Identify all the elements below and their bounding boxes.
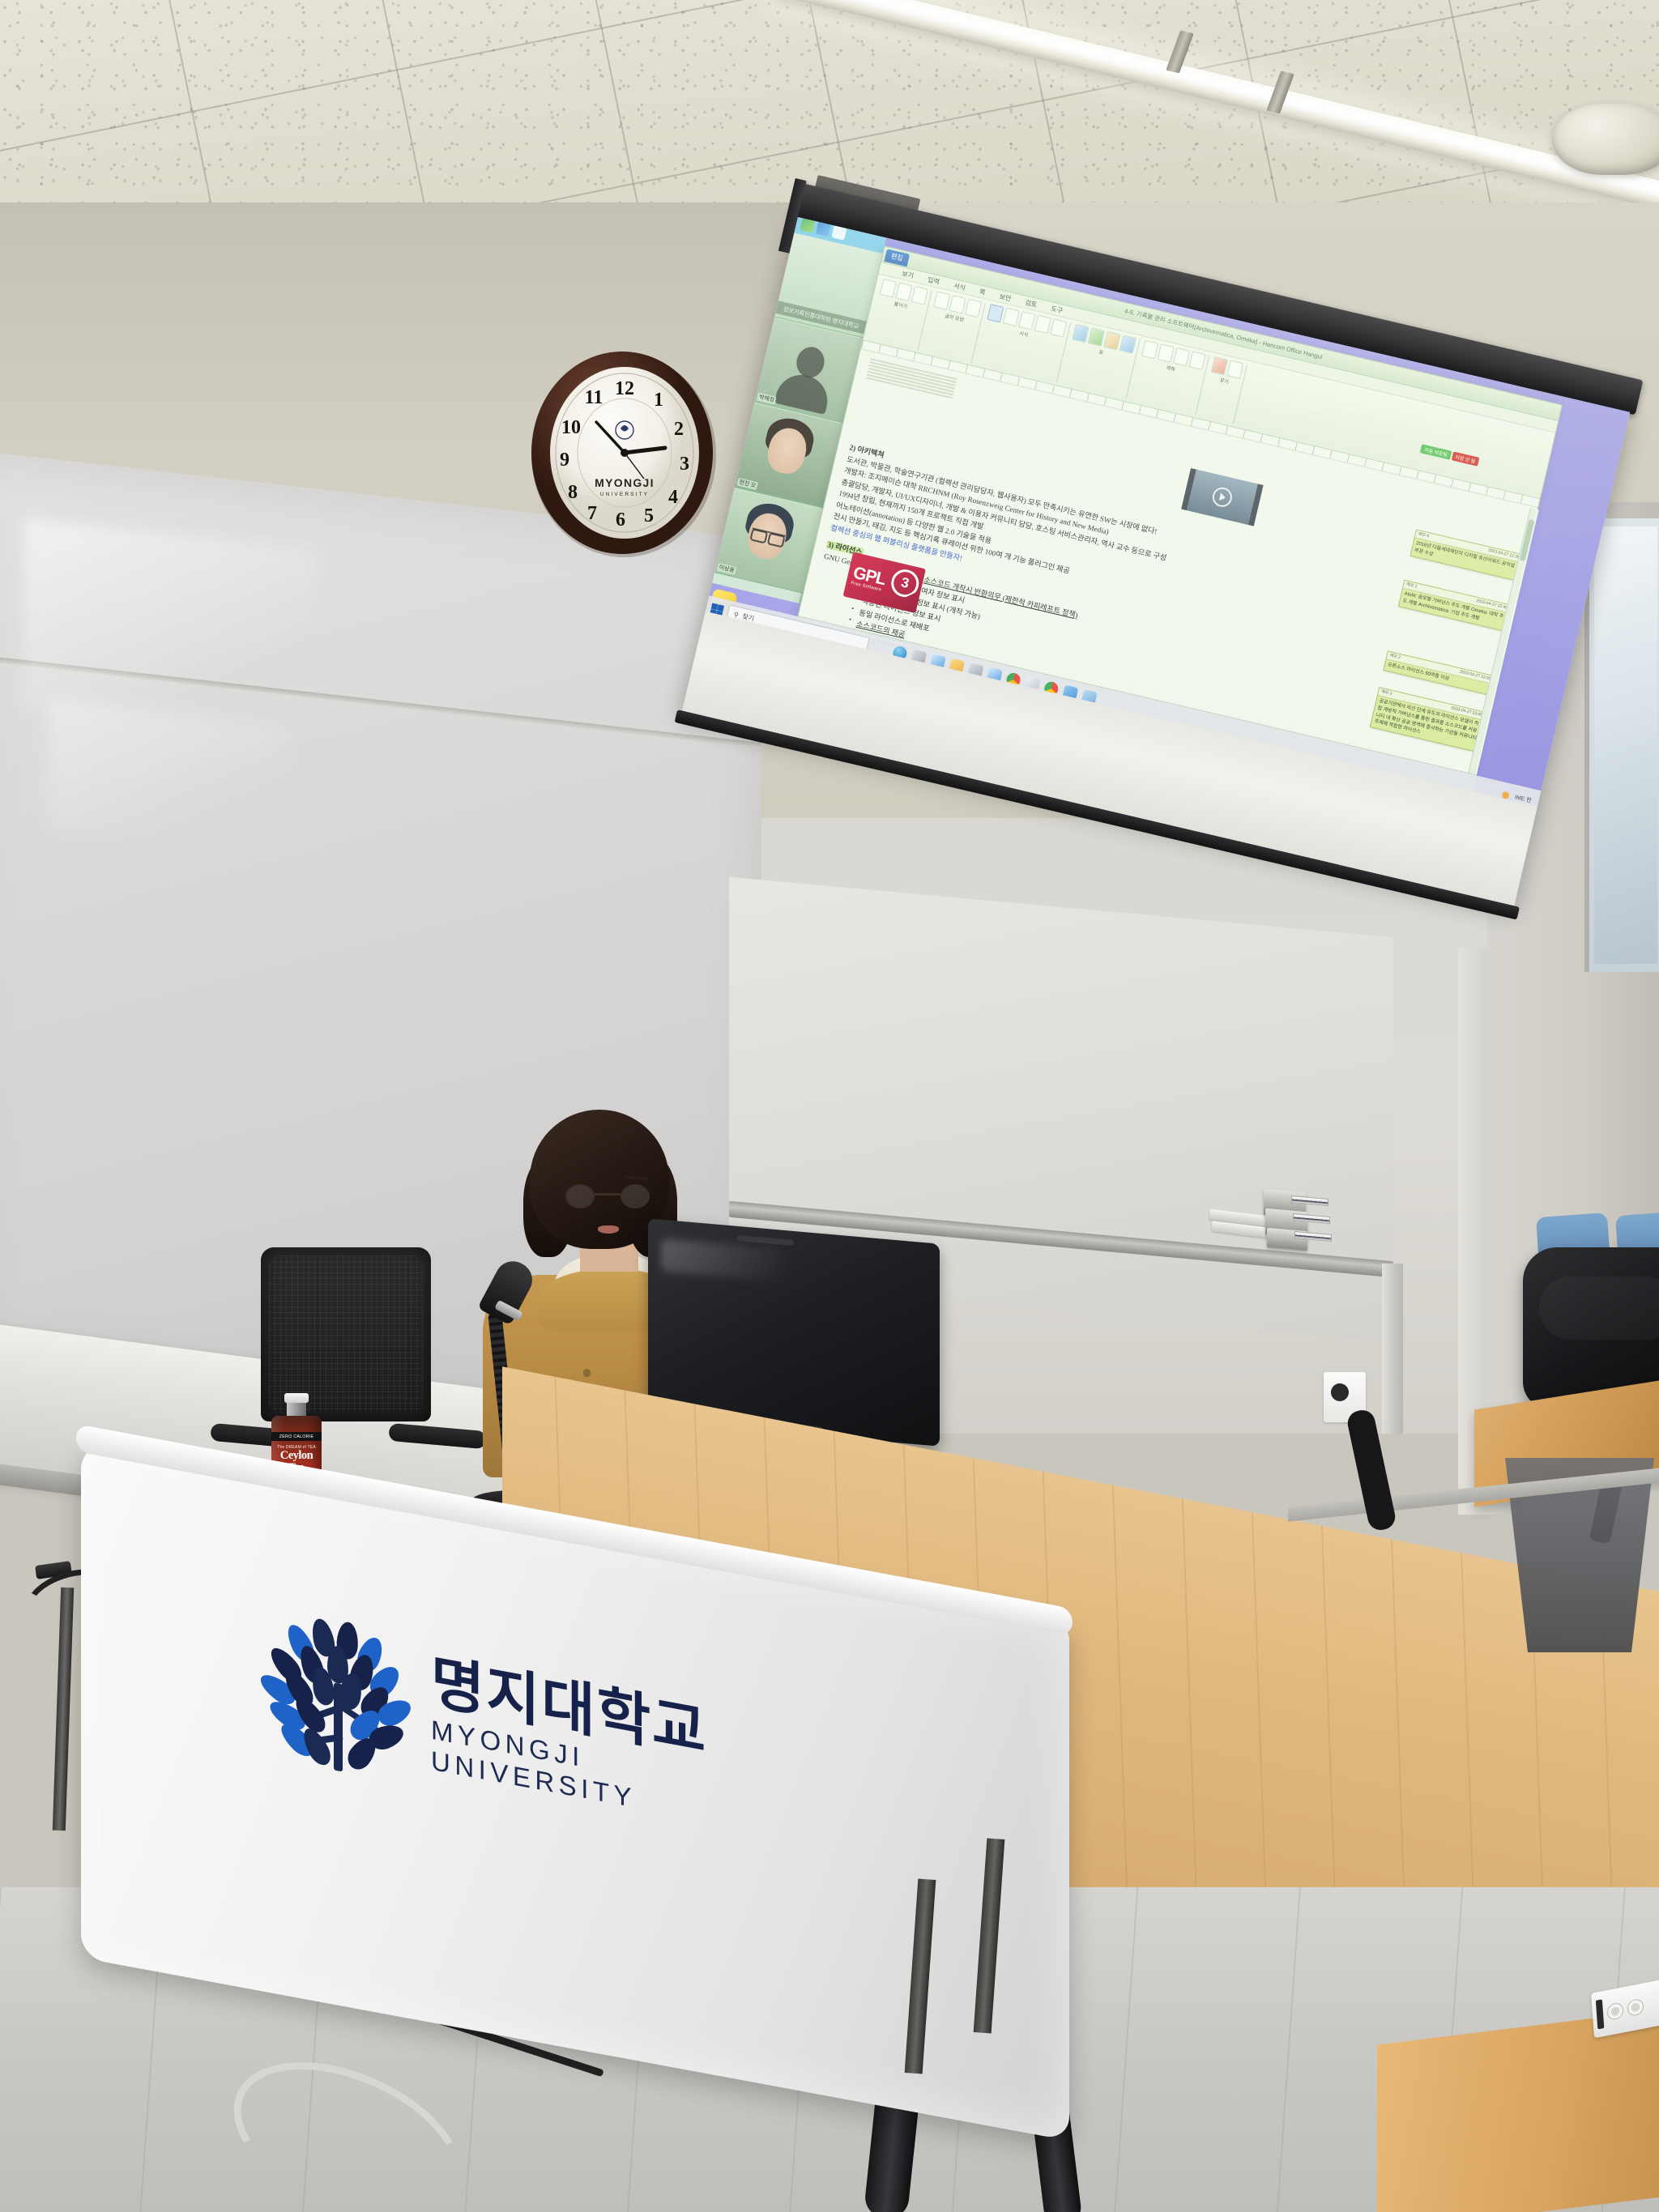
chart-icon[interactable]: [1088, 327, 1105, 346]
clear-marks-icon[interactable]: [911, 286, 928, 305]
ceiling-speaker: [1552, 104, 1659, 175]
menu-item-insert[interactable]: 입력: [927, 275, 940, 286]
svg-text:MYONGJI: MYONGJI: [595, 476, 655, 489]
comment-author: 메모 1: [1405, 582, 1418, 590]
menu-item-format[interactable]: 서식: [953, 281, 966, 292]
participant-body: [774, 370, 833, 416]
comment-box[interactable]: 메모 2 2023-04-27 22:55 오픈소스 라이선스 50여종 이상: [1383, 650, 1495, 695]
svg-text:10: 10: [561, 417, 581, 438]
replace-icon[interactable]: [1226, 360, 1243, 379]
ribbon-group-object[interactable]: 개체: [1128, 339, 1209, 416]
char-shape-icon[interactable]: [933, 292, 950, 310]
bookmark-icon[interactable]: [1188, 352, 1205, 370]
menu-item-security[interactable]: 보안: [999, 292, 1013, 303]
presenter-glasses-icon: [565, 1184, 650, 1208]
body-style-icon[interactable]: [987, 304, 1004, 322]
menu-item-page[interactable]: 쪽: [979, 287, 987, 296]
glasses-lens: [621, 1184, 650, 1208]
svg-text:7: 7: [587, 503, 597, 524]
ribbon-group-label: 서식: [1019, 329, 1030, 338]
glasses-lens: [565, 1184, 595, 1208]
svg-text:2: 2: [674, 419, 684, 440]
ribbon-group-label: 붙이기: [893, 300, 908, 310]
comment-box[interactable]: 메모 3 2023-04-27 23:05 공공기관에서 외산 단계 유도의 라…: [1370, 687, 1486, 752]
endnote-icon[interactable]: [1158, 343, 1175, 362]
menu-item-review[interactable]: 검토: [1025, 298, 1038, 309]
table-icon[interactable]: [1072, 324, 1089, 343]
paragraph-shape-icon[interactable]: [949, 295, 966, 313]
copy-format-icon[interactable]: [895, 283, 912, 301]
comment-box[interactable]: 메모 1 2023-04-27 22:40 AtoM: 글로벌 거버넌스 주도 …: [1398, 580, 1512, 632]
presenter-mouth: [598, 1225, 619, 1234]
comment-author: 메모 4: [1418, 531, 1430, 539]
power-socket[interactable]: [1627, 1998, 1644, 2018]
myongji-tree-logo-icon: [266, 1607, 412, 1788]
embedded-video-thumbnail[interactable]: [1181, 468, 1263, 526]
bottle-cap: [284, 1393, 309, 1403]
svg-text:9: 9: [560, 450, 569, 471]
menu-item-tools[interactable]: 도구: [1050, 304, 1064, 315]
column-icon[interactable]: [1018, 311, 1035, 330]
cable-slot: [1596, 1999, 1604, 2029]
menu-item-view[interactable]: 보기: [901, 269, 915, 280]
ribbon-group-insert[interactable]: 표: [1059, 323, 1141, 399]
whiteboard-glare: [49, 699, 292, 856]
svg-text:12: 12: [615, 378, 634, 399]
participant-name: 현진 오: [736, 478, 758, 491]
participant-name: 박혜정: [757, 393, 777, 405]
svg-text:1: 1: [654, 390, 663, 411]
paste-icon[interactable]: [880, 279, 897, 297]
bottle-tagline: The DREAM of TEA: [271, 1445, 322, 1450]
glasses-bridge: [595, 1193, 621, 1196]
svg-text:6: 6: [616, 509, 625, 531]
svg-text:8: 8: [568, 482, 578, 503]
footnote-icon[interactable]: [1141, 340, 1158, 359]
document-header-logo: [863, 385, 865, 390]
style-icon[interactable]: [965, 299, 982, 318]
picture-icon[interactable]: [1103, 331, 1120, 350]
play-icon: [1219, 492, 1226, 501]
drawing-icon[interactable]: [1120, 335, 1137, 353]
bottle-name-line1: Ceylon: [271, 1450, 322, 1462]
ribbon-group-label: 개체: [1166, 364, 1176, 373]
ribbon-group-label: 찾기: [1219, 376, 1230, 385]
outline-icon[interactable]: [1003, 308, 1020, 326]
memo-icon[interactable]: [1173, 347, 1190, 366]
svg-text:4: 4: [668, 487, 678, 508]
wall-clock: 12 1 2 3 4 5 6 7 8 9 10 11 MYONGJI UNIVE…: [514, 344, 733, 563]
svg-text:3: 3: [680, 454, 689, 475]
section-icon[interactable]: [1050, 318, 1067, 337]
wall-cable-conduit: [1382, 1264, 1403, 1434]
svg-text:UNIVERSITY: UNIVERSITY: [600, 492, 649, 497]
power-socket[interactable]: [1606, 2001, 1623, 2021]
comment-author: 메모 2: [1389, 653, 1401, 661]
chair-mesh-texture: [269, 1255, 423, 1413]
participant-name: 이상용: [717, 563, 737, 575]
svg-text:11: 11: [585, 387, 603, 408]
comment-box[interactable]: 메모 4 2023-04-27 22:38 2016년 다음세대재단의 디지털 …: [1410, 529, 1523, 581]
lecture-hall-photo: 정보기록진흥대학원 명지대학교 박혜정 현진 오: [0, 0, 1659, 2212]
jacket-button: [583, 1369, 591, 1376]
search-icon[interactable]: [1211, 356, 1228, 375]
outlet-socket: [1331, 1383, 1349, 1401]
comment-author: 메모 3: [1380, 689, 1392, 697]
bottle-zero-calorie-banner: ZERO CALORIE: [271, 1432, 322, 1441]
svg-text:5: 5: [644, 505, 654, 526]
ribbon-group-label: 표: [1098, 347, 1104, 356]
page-icon[interactable]: [1034, 315, 1051, 334]
